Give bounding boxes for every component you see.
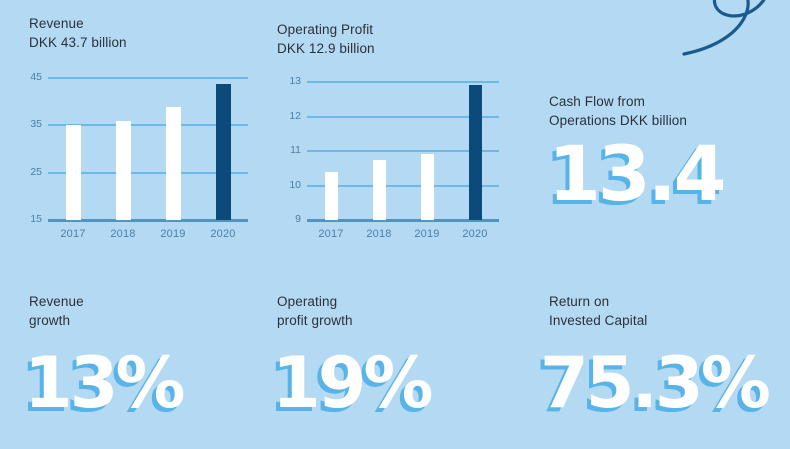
roic-panel: Return onInvested Capital <box>549 292 764 330</box>
chart-y-tick-label: 35 <box>18 119 42 129</box>
revenue-title-line1: Revenue <box>29 16 84 31</box>
operating-profit-panel: Operating ProfitDKK 12.9 billion <box>277 20 517 58</box>
chart-bar <box>166 107 181 220</box>
chart-x-tick-label: 2018 <box>353 228 405 240</box>
cashflow-panel-title: Cash Flow fromOperations DKK billion <box>549 92 779 130</box>
chart-y-tick-label: 15 <box>18 214 42 224</box>
chart-x-tick-label: 2019 <box>401 228 453 240</box>
operating-growth-title-line2: profit growth <box>277 313 353 328</box>
cashflow-panel: Cash Flow fromOperations DKK billion <box>549 92 779 130</box>
chart-y-tick-label: 10 <box>277 180 301 190</box>
operating-profit-bar-chart: 9101112132017201820192020 <box>307 82 499 220</box>
roic-title-line1: Return on <box>549 294 609 309</box>
chart-x-tick-label: 2019 <box>147 228 199 240</box>
chart-bar <box>469 85 482 220</box>
chart-bar <box>116 121 131 220</box>
chart-x-tick-label: 2017 <box>305 228 357 240</box>
operating-growth-title-line1: Operating <box>277 294 337 309</box>
operating-title-line1: Operating Profit <box>277 22 373 37</box>
revenue-bar-chart: 152535452017201820192020 <box>48 78 248 220</box>
revenue-growth-panel: Revenuegrowth <box>29 292 239 330</box>
revenue-panel-title: RevenueDKK 43.7 billion <box>29 14 269 52</box>
revenue-growth-panel-title: Revenuegrowth <box>29 292 239 330</box>
roic-panel-title: Return onInvested Capital <box>549 292 764 330</box>
roic-title-line2: Invested Capital <box>549 313 647 328</box>
chart-x-tick-label: 2020 <box>449 228 501 240</box>
roic-value: 75.3% <box>540 348 768 418</box>
chart-y-tick-label: 25 <box>18 167 42 177</box>
chart-y-tick-label: 12 <box>277 111 301 121</box>
revenue-panel: RevenueDKK 43.7 billion <box>29 14 269 52</box>
cashflow-value: 13.4 <box>548 136 724 212</box>
operating-title-line2: DKK 12.9 billion <box>277 41 375 56</box>
chart-bar <box>216 84 231 220</box>
chart-bar <box>66 125 81 220</box>
chart-gridline <box>307 81 499 83</box>
chart-y-tick-label: 11 <box>277 145 301 155</box>
operating-profit-panel-title: Operating ProfitDKK 12.9 billion <box>277 20 517 58</box>
chart-x-tick-label: 2018 <box>97 228 149 240</box>
swoosh-line-decoration-icon <box>668 0 790 64</box>
chart-x-tick-label: 2020 <box>197 228 249 240</box>
operating-growth-panel: Operatingprofit growth <box>277 292 487 330</box>
operating-growth-value: 19% <box>272 348 431 418</box>
chart-y-tick-label: 9 <box>277 214 301 224</box>
chart-bar <box>421 154 434 220</box>
chart-y-tick-label: 13 <box>277 76 301 86</box>
chart-bar <box>325 172 338 220</box>
chart-gridline <box>48 77 248 79</box>
chart-bar <box>373 160 386 220</box>
revenue-growth-value: 13% <box>24 348 183 418</box>
revenue-growth-title-line1: Revenue <box>29 294 84 309</box>
revenue-title-line2: DKK 43.7 billion <box>29 35 127 50</box>
cashflow-title-line1: Cash Flow from <box>549 94 645 109</box>
infographic-root: RevenueDKK 43.7 billion 1525354520172018… <box>0 0 790 449</box>
chart-x-tick-label: 2017 <box>47 228 99 240</box>
operating-growth-panel-title: Operatingprofit growth <box>277 292 487 330</box>
chart-y-tick-label: 45 <box>18 72 42 82</box>
cashflow-title-line2: Operations DKK billion <box>549 113 687 128</box>
revenue-growth-title-line2: growth <box>29 313 70 328</box>
